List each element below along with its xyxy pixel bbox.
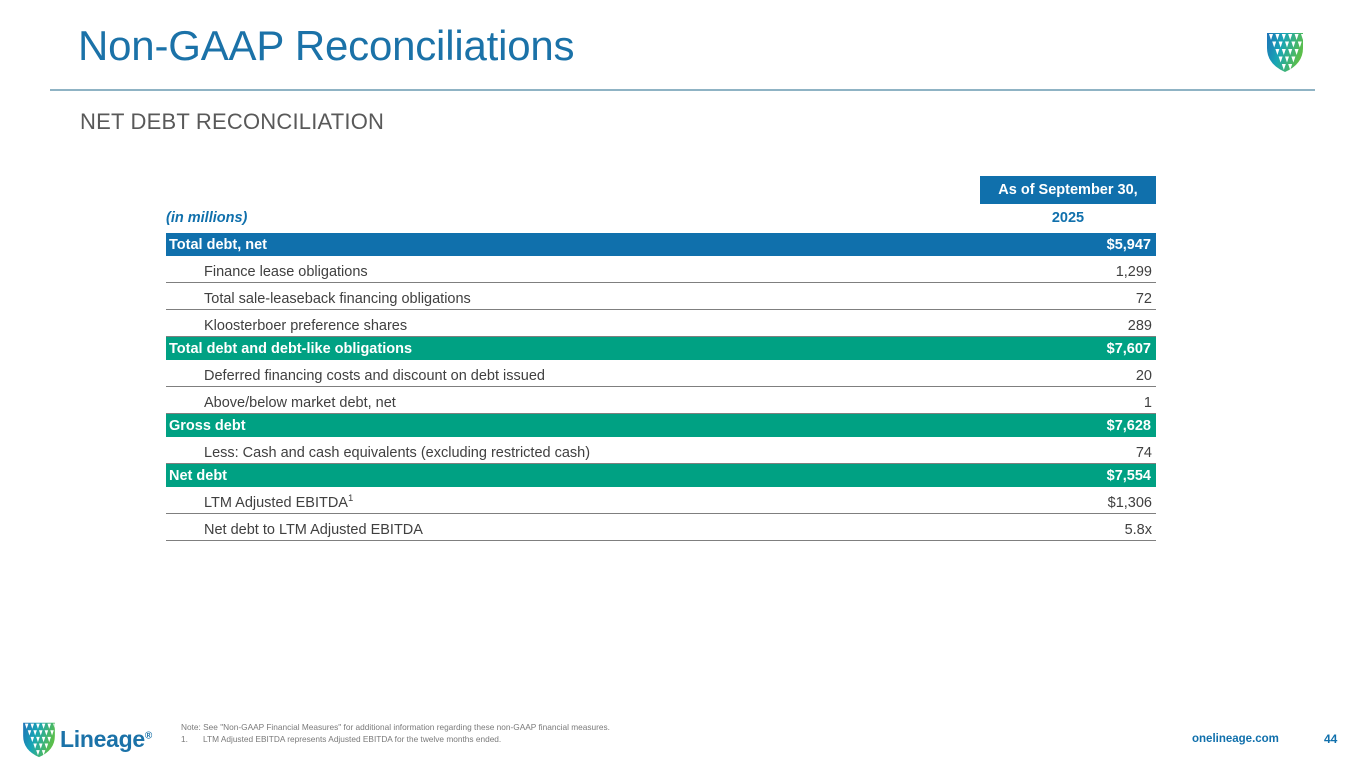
table-row: Net debt to LTM Adjusted EBITDA 5.8x (166, 514, 1156, 541)
row-value: 74 (1136, 445, 1152, 461)
row-label: Less: Cash and cash equivalents (excludi… (204, 445, 590, 461)
footnotes: Note: See "Non-GAAP Financial Measures" … (181, 721, 610, 745)
row-label: Kloosterboer preference shares (204, 318, 407, 334)
period-year: 2025 (980, 210, 1156, 226)
footnote-number: 1. (181, 733, 203, 745)
registered-mark-icon: ® (145, 730, 152, 741)
row-value: 1,299 (1116, 264, 1152, 280)
row-value: $5,947 (1107, 237, 1151, 253)
row-value: $7,628 (1107, 418, 1151, 434)
row-label: Total debt, net (169, 237, 267, 253)
footnote-text: LTM Adjusted EBITDA represents Adjusted … (203, 734, 501, 744)
footnote-marker: 1 (348, 493, 353, 504)
page-number: 44 (1324, 732, 1337, 746)
row-label-text: LTM Adjusted EBITDA (204, 495, 348, 511)
footnote-note: Note: See "Non-GAAP Financial Measures" … (181, 721, 610, 733)
table-row: Deferred financing costs and discount on… (166, 360, 1156, 387)
row-value: 5.8x (1125, 522, 1152, 538)
table-row: Above/below market debt, net 1 (166, 387, 1156, 414)
period-header-chip: As of September 30, (980, 176, 1156, 204)
row-label: Net debt (169, 468, 227, 484)
row-value: $1,306 (1108, 495, 1152, 511)
row-label: Above/below market debt, net (204, 395, 396, 411)
row-label: Finance lease obligations (204, 264, 368, 280)
site-url-link[interactable]: onelineage.com (1192, 733, 1279, 745)
table-period-header-row: As of September 30, (166, 176, 1156, 204)
row-value: 1 (1144, 395, 1152, 411)
table-row: Finance lease obligations 1,299 (166, 256, 1156, 283)
table-row: Kloosterboer preference shares 289 (166, 310, 1156, 337)
table-row: Total sale-leaseback financing obligatio… (166, 283, 1156, 310)
row-label: Deferred financing costs and discount on… (204, 368, 545, 384)
table-row: Net debt $7,554 (166, 464, 1156, 487)
table-row: Total debt, net $5,947 (166, 233, 1156, 256)
units-label: (in millions) (166, 210, 247, 226)
table-row: Less: Cash and cash equivalents (excludi… (166, 437, 1156, 464)
row-label: Total debt and debt-like obligations (169, 341, 412, 357)
row-value: $7,607 (1107, 341, 1151, 357)
row-label: Net debt to LTM Adjusted EBITDA (204, 522, 423, 538)
table-row: LTM Adjusted EBITDA1 $1,306 (166, 487, 1156, 514)
row-value: 72 (1136, 291, 1152, 307)
wordmark-text: Lineage (60, 726, 145, 752)
row-value: $7,554 (1107, 468, 1151, 484)
row-value: 289 (1128, 318, 1152, 334)
row-label: Gross debt (169, 418, 246, 434)
section-subtitle: NET DEBT RECONCILIATION (80, 109, 384, 135)
net-debt-reconciliation-table: As of September 30, (in millions) 2025 T… (166, 176, 1156, 541)
lineage-shield-logo-icon (1266, 31, 1304, 73)
lineage-shield-logo-footer-icon (22, 721, 56, 758)
row-label: LTM Adjusted EBITDA1 (204, 493, 353, 511)
page-title: Non-GAAP Reconciliations (78, 22, 574, 70)
table-units-row: (in millions) 2025 (166, 204, 1156, 231)
table-row: Gross debt $7,628 (166, 414, 1156, 437)
footnote-item: 1.LTM Adjusted EBITDA represents Adjuste… (181, 733, 610, 745)
table-row: Total debt and debt-like obligations $7,… (166, 337, 1156, 360)
row-value: 20 (1136, 368, 1152, 384)
title-divider (50, 89, 1315, 91)
row-label: Total sale-leaseback financing obligatio… (204, 291, 471, 307)
lineage-wordmark: Lineage® (60, 726, 152, 753)
